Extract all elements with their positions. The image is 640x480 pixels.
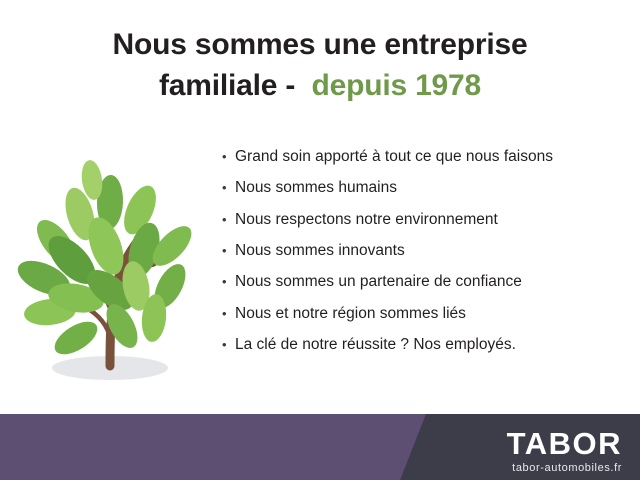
brand-wordmark: TABOR [507, 428, 622, 461]
headline-line-2-prefix: familiale - [159, 69, 295, 102]
brand-logo: TABOR tabor-automobiles.fr [412, 428, 622, 474]
bullet-list: • Grand soin apporté à tout ce que nous … [222, 148, 622, 367]
list-item-label: Nous sommes un partenaire de confiance [235, 273, 522, 291]
list-item: • Nous respectons notre environnement [222, 211, 622, 229]
bullet-icon: • [222, 307, 235, 320]
list-item: • Nous sommes innovants [222, 242, 622, 260]
brand-text-o: O [572, 428, 598, 461]
list-item-label: Nous sommes humains [235, 179, 397, 197]
bullet-icon: • [222, 338, 235, 351]
slide-canvas: Nous sommes une entreprise familiale - d… [0, 0, 640, 480]
tree-icon [14, 150, 214, 390]
list-item-label: Nous respectons notre environnement [235, 211, 498, 229]
list-item: • Nous et notre région sommes liés [222, 305, 622, 323]
page-title: Nous sommes une entreprise familiale - d… [0, 24, 640, 107]
list-item: • Grand soin apporté à tout ce que nous … [222, 148, 622, 166]
tree-illustration [14, 150, 214, 390]
bullet-icon: • [222, 275, 235, 288]
list-item: • La clé de notre réussite ? Nos employé… [222, 336, 622, 354]
bullet-icon: • [222, 244, 235, 257]
headline-accent: depuis 1978 [311, 69, 481, 102]
bullet-icon: • [222, 150, 235, 163]
brand-text-part1: TAB [507, 426, 573, 461]
list-item: • Nous sommes humains [222, 179, 622, 197]
list-item-label: Grand soin apporté à tout ce que nous fa… [235, 148, 553, 166]
footer-band: TABOR tabor-automobiles.fr [0, 414, 640, 480]
bullet-icon: • [222, 213, 235, 226]
list-item-label: Nous sommes innovants [235, 242, 405, 260]
headline-line-1: Nous sommes une entreprise [0, 24, 640, 65]
headline-line-2: familiale - depuis 1978 [0, 65, 640, 106]
bullet-icon: • [222, 181, 235, 194]
brand-website: tabor-automobiles.fr [412, 462, 622, 474]
brand-text-part2: R [598, 426, 622, 461]
list-item-label: La clé de notre réussite ? Nos employés. [235, 336, 516, 354]
list-item-label: Nous et notre région sommes liés [235, 305, 466, 323]
list-item: • Nous sommes un partenaire de confiance [222, 273, 622, 291]
